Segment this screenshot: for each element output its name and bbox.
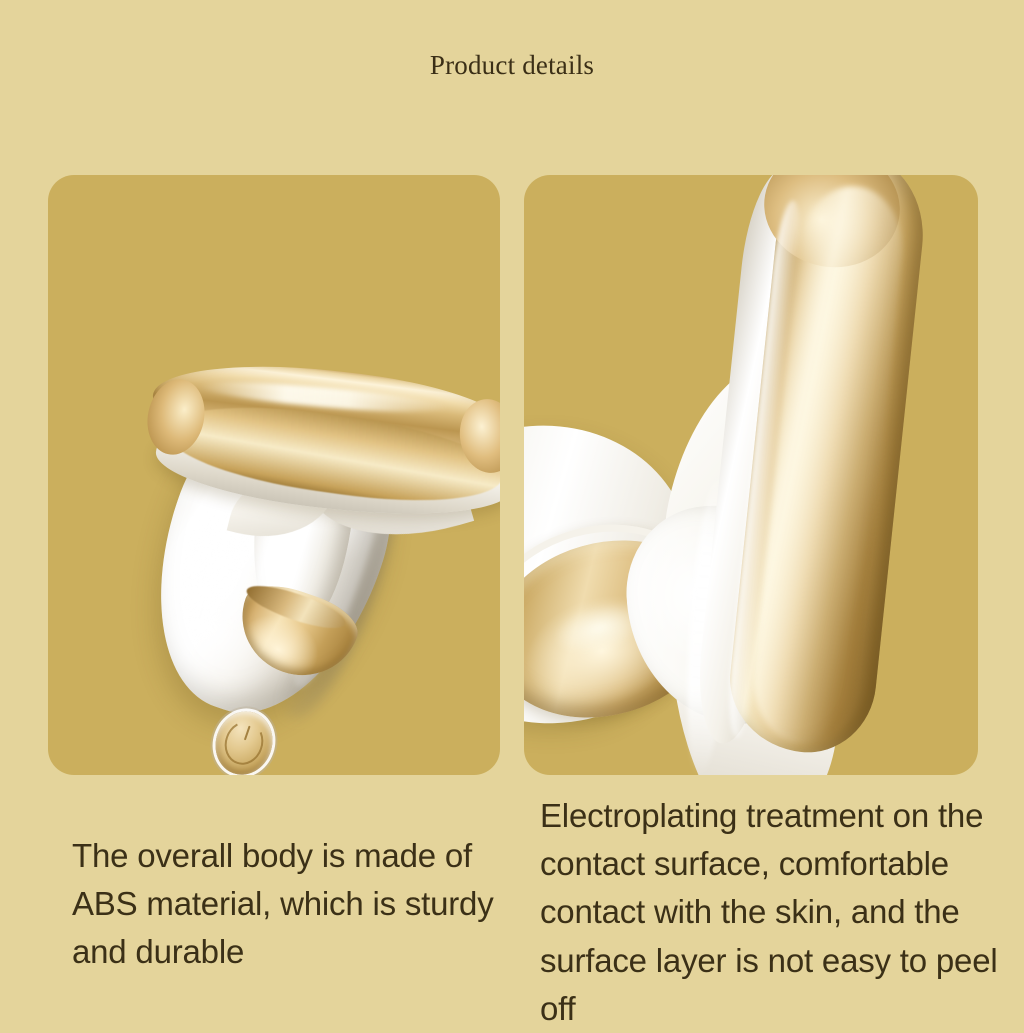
product-details-page: Product details bbox=[0, 0, 1024, 1024]
caption-left: The overall body is made of ABS material… bbox=[72, 832, 512, 977]
device-illustration-front bbox=[48, 175, 500, 775]
device-illustration-closeup bbox=[524, 175, 978, 775]
product-image-card-right bbox=[524, 175, 978, 775]
product-photo-right bbox=[524, 175, 978, 775]
page-title: Product details bbox=[0, 50, 1024, 81]
caption-right: Electroplating treatment on the contact … bbox=[540, 792, 1010, 1033]
power-button[interactable] bbox=[207, 704, 281, 775]
product-image-card-left bbox=[48, 175, 500, 775]
product-photo-left bbox=[48, 175, 500, 775]
power-icon bbox=[219, 716, 269, 770]
